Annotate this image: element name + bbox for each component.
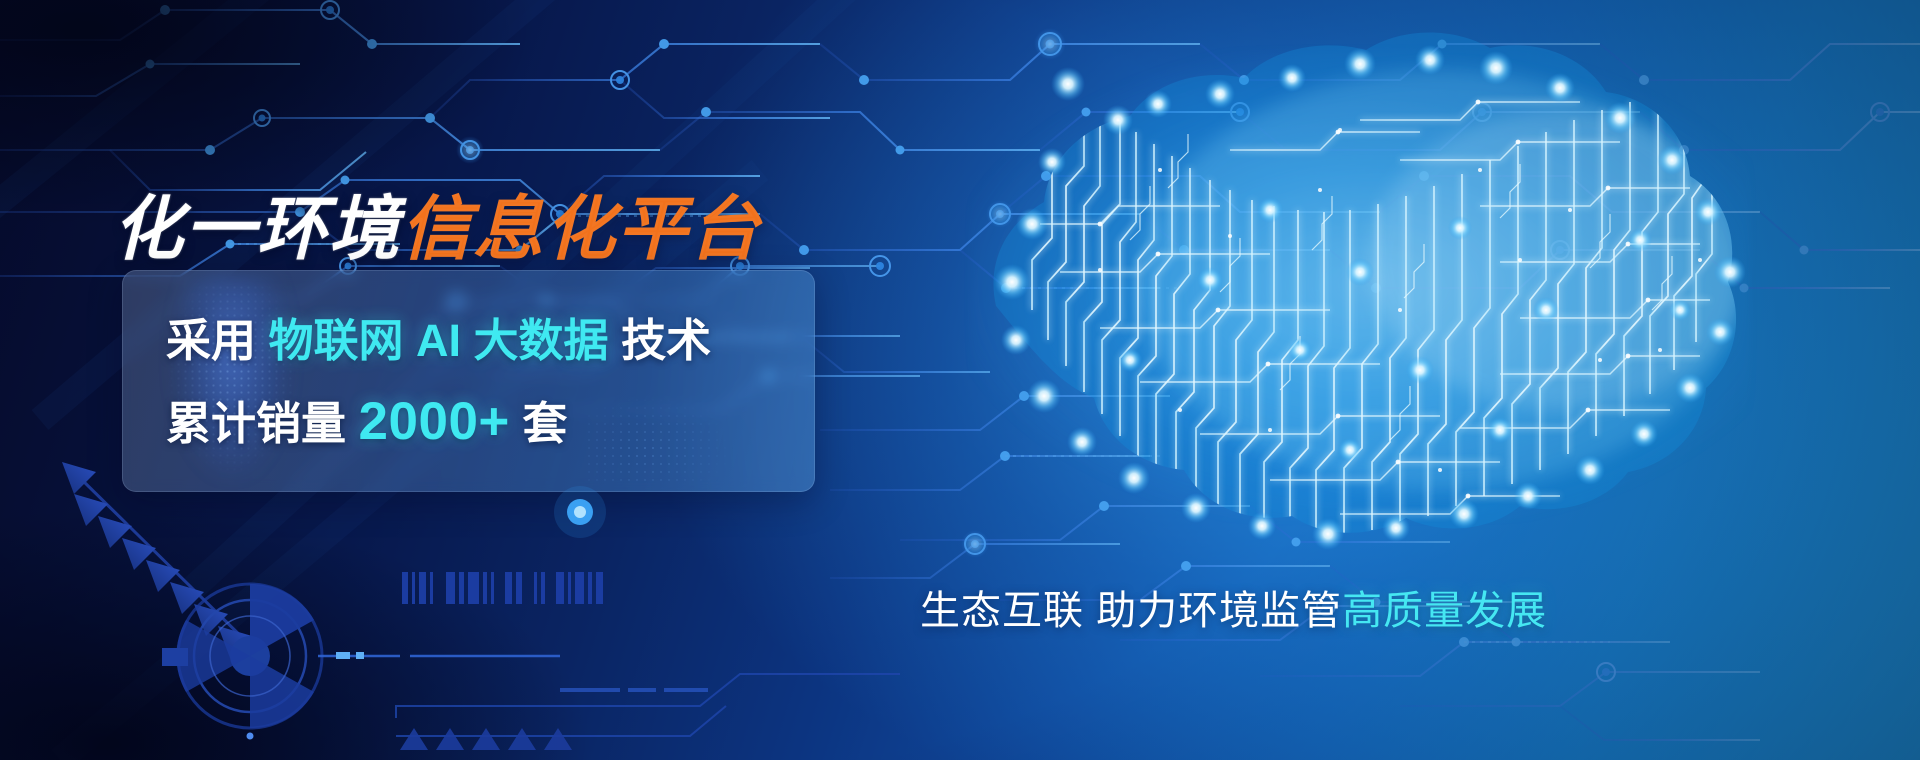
hud-panel-frame	[396, 674, 900, 736]
tagline-white: 生态互联 助力环境监管	[920, 589, 1342, 633]
tagline-highlight: 高质量发展	[1342, 589, 1547, 633]
feature-line-technology: 采用 物联网 AI 大数据 技术	[166, 310, 815, 372]
accent-glow-node	[520, 470, 680, 590]
feature-glass-card: 采用 物联网 AI 大数据 技术 累计销量 2000+ 套	[122, 270, 815, 492]
page-title-orange: 信息化平台	[401, 190, 761, 268]
page-title-white: 化一环境	[113, 190, 401, 268]
feature-line-sales: 累计销量 2000+ 套	[166, 391, 815, 455]
sales-metric-value: 2000+	[359, 392, 510, 451]
hud-micro-bars	[560, 688, 708, 692]
feature-line1-prefix: 采用	[166, 315, 256, 366]
brain-circuit-svg	[800, 10, 1920, 570]
hud-decoration-group	[0, 460, 900, 760]
ai-platform-hero-banner: 化一环境信息化平台 采用 物联网 AI 大数据 技术 累计销量 2000+ 套 …	[0, 0, 1920, 760]
tagline: 生态互联 助力环境监管高质量发展	[920, 585, 1547, 637]
page-title: 化一环境信息化平台	[113, 187, 761, 271]
ai-circuit-brain-graphic	[800, 10, 1920, 570]
arrow-chevrons-icon	[62, 462, 255, 658]
bottom-chevrons-icon	[400, 728, 572, 750]
feature-line2-prefix: 累计销量	[166, 398, 346, 449]
feature-line1-highlight: 物联网 AI 大数据	[269, 315, 609, 366]
feature-line1-suffix: 技术	[621, 315, 711, 366]
sales-metric-unit: 套	[522, 398, 567, 449]
